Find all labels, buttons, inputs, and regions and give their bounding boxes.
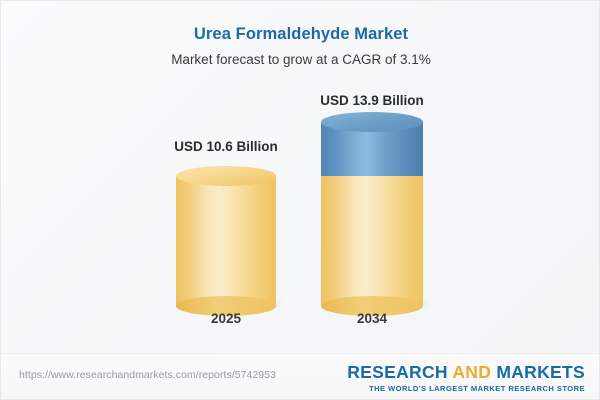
brand-word-research: RESEARCH (347, 362, 448, 382)
bar-top-cap-2034 (321, 112, 423, 132)
bar-segment-growth-2034 (321, 122, 423, 176)
market-forecast-chart-card: Urea Formaldehyde Market Market forecast… (0, 0, 600, 400)
bar-top-cap-2025 (176, 166, 276, 186)
brand-wordmark: RESEARCH AND MARKETS (347, 362, 585, 382)
bar-cylinder-2034 (321, 122, 423, 306)
brand-tagline: THE WORLD'S LARGEST MARKET RESEARCH STOR… (347, 384, 585, 393)
bar-category-label-2034: 2034 (357, 311, 387, 326)
bar-value-label-2025: USD 10.6 Billion (174, 139, 278, 154)
report-url[interactable]: https://www.researchandmarkets.com/repor… (19, 369, 276, 381)
plot-area: USD 10.6 Billion 2025 USD 13.9 Billion (1, 1, 600, 353)
bar-cylinder-2025 (176, 176, 276, 306)
bar-body-base-2034 (321, 176, 423, 306)
bar-category-label-2025: 2025 (211, 311, 241, 326)
brand-word-and: AND (452, 362, 491, 382)
bar-body-base-2025 (176, 176, 276, 306)
footer: https://www.researchandmarkets.com/repor… (1, 353, 600, 400)
bar-group-2034: USD 13.9 Billion 2034 (321, 1, 423, 353)
bar-segment-base-2025 (176, 176, 276, 306)
research-and-markets-logo[interactable]: RESEARCH AND MARKETS THE WORLD'S LARGEST… (347, 362, 585, 393)
bar-group-2025: USD 10.6 Billion 2025 (176, 1, 276, 353)
bar-value-label-2034: USD 13.9 Billion (320, 93, 424, 108)
bar-segment-base-2034 (321, 176, 423, 306)
brand-word-markets: MARKETS (496, 362, 585, 382)
